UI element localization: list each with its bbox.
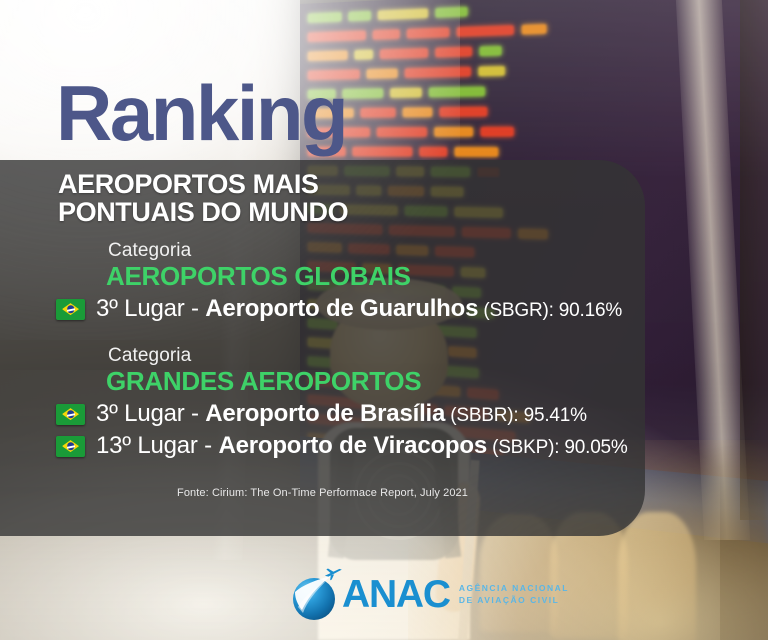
ranking-row: 3º Lugar - Aeroporto de Guarulhos (SBGR)… xyxy=(56,295,660,323)
ranking-place: 3º Lugar - xyxy=(96,400,205,427)
category-kicker: Categoria xyxy=(108,240,660,262)
ranking-code-and-value: (SBBR): 95.41% xyxy=(445,405,587,426)
brazil-flag-icon xyxy=(56,299,85,320)
anac-tagline-line-1: AGÊNCIA NACIONAL xyxy=(459,583,569,593)
source-note: Fonte: Cirium: The On-Time Performace Re… xyxy=(0,487,645,499)
anac-tagline: AGÊNCIA NACIONAL DE AVIAÇÃO CIVIL xyxy=(459,582,569,607)
ranking-place: 13º Lugar - xyxy=(96,432,218,459)
ranking-airport-name: Aeroporto de Guarulhos xyxy=(205,295,478,322)
ranking-text: 13º Lugar - Aeroporto de Viracopos (SBKP… xyxy=(96,432,628,460)
ranking-place: 3º Lugar - xyxy=(96,295,205,322)
ranking-code-and-value: (SBGR): 90.16% xyxy=(478,300,622,321)
category-kicker: Categoria xyxy=(108,345,660,367)
brazil-flag-icon xyxy=(56,436,85,457)
ranking-airport-name: Aeroporto de Brasília xyxy=(205,400,445,427)
ranking-content: Categoria AEROPORTOS GLOBAIS 3º Lugar - … xyxy=(0,0,768,640)
anac-wordmark: ANAC xyxy=(342,575,450,614)
ranking-code-and-value: (SBKP): 90.05% xyxy=(487,437,628,458)
category-name: GRANDES AEROPORTOS xyxy=(106,367,660,396)
ranking-row: 3º Lugar - Aeroporto de Brasília (SBBR):… xyxy=(56,400,660,428)
anac-tagline-line-2: DE AVIAÇÃO CIVIL xyxy=(459,595,560,605)
anac-logo: ANAC AGÊNCIA NACIONAL DE AVIAÇÃO CIVIL xyxy=(288,566,569,622)
ranking-poster: Ranking AEROPORTOS MAIS PONTUAIS DO MUND… xyxy=(0,0,768,640)
anac-globe-icon xyxy=(288,566,344,622)
ranking-text: 3º Lugar - Aeroporto de Guarulhos (SBGR)… xyxy=(96,295,622,323)
category-block-global-airports: Categoria AEROPORTOS GLOBAIS 3º Lugar - … xyxy=(0,240,660,323)
category-block-large-airports: Categoria GRANDES AEROPORTOS 3º Lugar - … xyxy=(0,345,660,460)
category-name: AEROPORTOS GLOBAIS xyxy=(106,262,660,291)
ranking-text: 3º Lugar - Aeroporto de Brasília (SBBR):… xyxy=(96,400,587,428)
ranking-airport-name: Aeroporto de Viracopos xyxy=(218,432,487,459)
brazil-flag-icon xyxy=(56,404,85,425)
ranking-row: 13º Lugar - Aeroporto de Viracopos (SBKP… xyxy=(56,432,660,460)
